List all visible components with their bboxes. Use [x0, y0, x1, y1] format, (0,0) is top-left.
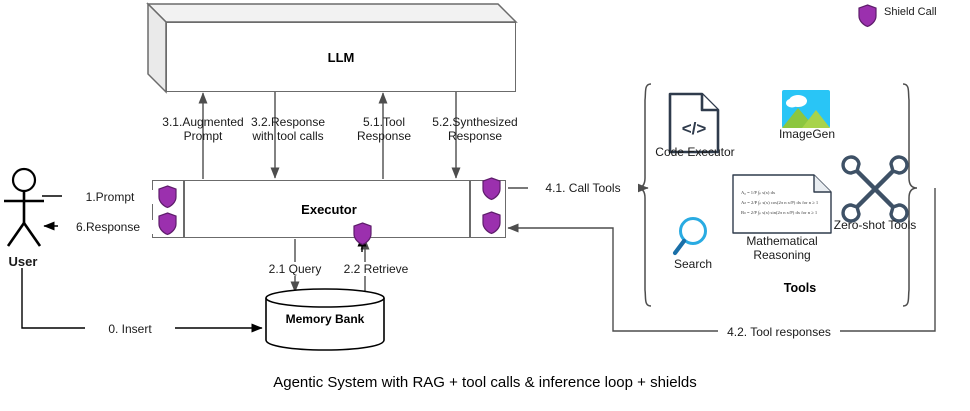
magnifier-icon[interactable]	[672, 216, 712, 258]
tool-response-line1: 5.1.Tool	[363, 115, 405, 129]
math-document-icon[interactable]: A₀ = 1/P ∫ₚ s(x) dx Aₙ = 2/P ∫ₚ s(x) cos…	[732, 174, 832, 234]
tool-label-search: Search	[660, 257, 726, 271]
shield-icon-tool-call[interactable]	[482, 177, 501, 200]
llm-label: LLM	[166, 22, 516, 92]
edge-label-retrieve: 2.2 Retrieve	[332, 262, 420, 276]
edge-label-call-tools: 4.1. Call Tools	[528, 181, 638, 195]
edge-label-synthesized-response: 5.2.Synthesized Response	[415, 115, 535, 143]
augmented-prompt-line2: Prompt	[184, 129, 223, 143]
llm-node[interactable]: LLM	[148, 4, 518, 92]
edge-label-insert: 0. Insert	[85, 322, 175, 336]
shield-icon-output-response[interactable]	[158, 212, 177, 235]
svg-text:</>: </>	[682, 119, 707, 138]
tool-label-code-executor: Code Executor	[650, 145, 740, 159]
legend-shield-icon	[858, 4, 877, 27]
response-tool-calls-line2: with tool calls	[252, 129, 323, 143]
response-tool-calls-line1: 3.2.Response	[251, 115, 325, 129]
edge-label-query: 2.1 Query	[256, 262, 334, 276]
user-label: User	[0, 255, 46, 269]
tool-label-math-reasoning: Mathematical Reasoning	[727, 234, 837, 262]
synthesized-line2: Response	[448, 129, 502, 143]
tool-label-zero-shot-tools: Zero-shot Tools	[820, 218, 930, 232]
tool-label-imagegen: ImageGen	[770, 127, 844, 141]
shield-icon-input-prompt[interactable]	[158, 185, 177, 208]
edge-label-response-tool-calls: 3.2.Response with tool calls	[229, 115, 347, 143]
executor-node[interactable]: Executor	[152, 180, 506, 238]
tool-response-line2: Response	[357, 129, 411, 143]
user-stick-figure-icon[interactable]	[2, 168, 58, 252]
executor-label: Executor	[153, 181, 505, 237]
shield-icon-memory[interactable]	[353, 222, 372, 245]
crossed-wrenches-icon[interactable]	[846, 160, 904, 218]
diagram-caption: Agentic System with RAG + tool calls & i…	[0, 374, 970, 391]
edge-label-prompt: 1.Prompt	[62, 190, 158, 204]
memory-bank-label: Memory Bank	[265, 312, 385, 326]
memory-bank-node[interactable]: Memory Bank	[265, 288, 385, 350]
legend-label: Shield Call	[884, 6, 937, 18]
tools-group-label: Tools	[745, 281, 855, 295]
image-icon[interactable]	[782, 90, 830, 128]
shield-icon-tool-response[interactable]	[482, 211, 501, 234]
edge-label-tool-responses: 4.2. Tool responses	[718, 325, 840, 339]
synthesized-line1: 5.2.Synthesized	[432, 115, 517, 129]
edge-label-response: 6.Response	[58, 220, 158, 234]
